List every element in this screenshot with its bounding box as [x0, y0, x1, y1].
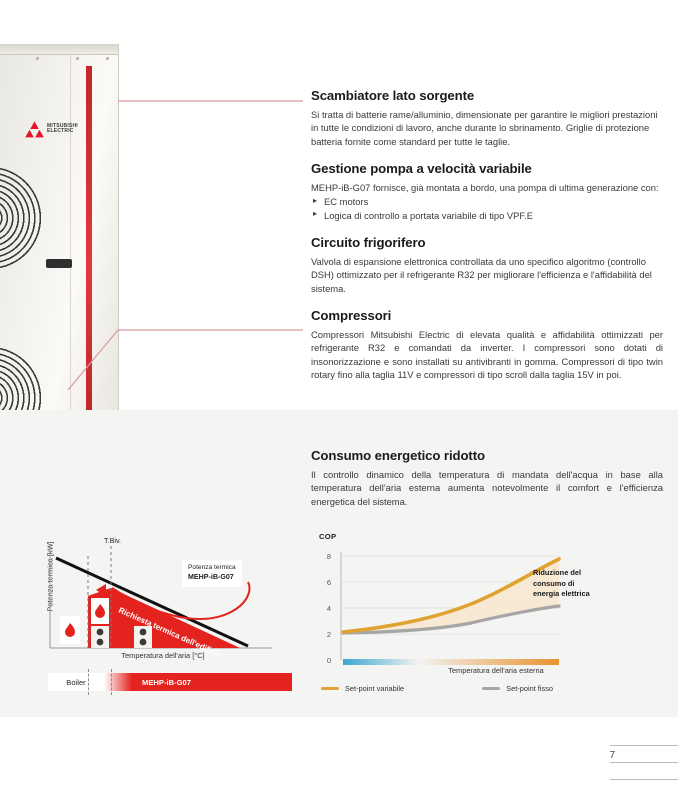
temperature-gradient-bar [343, 659, 559, 665]
boiler-flame-icon [60, 616, 80, 644]
feature-block: Compressori Compressori Mitsubishi Elect… [311, 308, 663, 381]
energy-saving-section: Consumo energetico ridotto Il controllo … [0, 410, 678, 719]
annotation-line-2: consumo di [533, 579, 590, 590]
energy-saving-text: Consumo energetico ridotto Il controllo … [311, 448, 663, 508]
legend-label-variable: Set-point variabile [345, 684, 404, 693]
legend-item-fixed: Set-point fisso [482, 684, 553, 693]
bivalent-chart-plot: Richiesta termica dell'edificio [26, 538, 292, 668]
annotation-line-3: energia elettrica [533, 589, 590, 600]
boiler-flame-icon [91, 598, 109, 624]
legend-label-fixed: Set-point fisso [506, 684, 553, 693]
savings-annotation: Riduzione del consumo di energia elettri… [533, 568, 590, 600]
y-tick-4: 4 [327, 604, 331, 613]
feature-heading: Compressori [311, 308, 663, 323]
annotation-line-1: Riduzione del [533, 568, 590, 579]
callout-line-1: Potenza termica [188, 564, 236, 573]
legend-item-variable: Set-point variabile [321, 684, 404, 693]
capacity-callout: Potenza termica MEHP-iB-G07 [182, 560, 242, 587]
footer-rule-bottom [610, 779, 678, 780]
feature-block: Gestione pompa a velocità variabile MEHP… [311, 161, 663, 222]
range-dashed-marker [88, 669, 89, 695]
bivalent-point-chart: Potenza termica [kW] Temperatura dell'ar… [26, 538, 292, 706]
feature-block: Scambiatore lato sorgente Si tratta di b… [311, 88, 663, 148]
operating-range-boiler: Boiler [48, 673, 104, 691]
heat-pump-unit-icon [91, 626, 109, 648]
cop-chart: COP 8 6 4 2 0 [311, 532, 663, 712]
feature-body: MEHP-iB-G07 fornisce, già montata a bord… [311, 181, 663, 194]
heat-pump-unit-icon [134, 626, 152, 648]
operating-range-heatpump: MEHP-iB-G07 [132, 673, 292, 691]
y-tick-2: 2 [327, 630, 331, 639]
feature-text-column: Scambiatore lato sorgente Si tratta di b… [311, 88, 663, 381]
cop-chart-legend: Set-point variabile Set-point fisso [321, 684, 661, 693]
cop-axis-title: COP [319, 532, 336, 541]
cop-chart-plot: 8 6 4 2 0 [311, 542, 663, 670]
y-tick-0: 0 [327, 656, 331, 665]
legend-swatch-variable [321, 687, 339, 691]
footer-rule-group [610, 745, 678, 780]
product-feature-section: MITSUBISHI ELECTRIC Scambiatore lato sor… [0, 0, 678, 410]
feature-body: Si tratta di batterie rame/alluminio, di… [311, 108, 663, 148]
leader-line-2 [68, 330, 303, 390]
range-dashed-marker [111, 669, 112, 695]
legend-swatch-fixed [482, 687, 500, 691]
list-item: EC motors [311, 195, 663, 208]
section-body: Il controllo dinamico della temperatura … [311, 468, 663, 508]
callout-line-2: MEHP-iB-G07 [188, 573, 236, 583]
list-item: Logica di controllo a portata variabile … [311, 209, 663, 222]
y-tick-8: 8 [327, 552, 331, 561]
cop-x-axis-label: Temperatura dell'aria esterna [341, 666, 651, 675]
feature-body: Valvola di espansione elettronica contro… [311, 255, 663, 295]
operating-range-bar: Boiler MEHP-iB-G07 [48, 673, 292, 691]
operating-range-transition [104, 673, 132, 691]
savings-area [343, 559, 559, 633]
feature-heading: Gestione pompa a velocità variabile [311, 161, 663, 176]
section-heading: Consumo energetico ridotto [311, 448, 663, 463]
feature-heading: Circuito frigorifero [311, 235, 663, 250]
page-footer: 7 [0, 717, 678, 807]
feature-bullet-list: EC motors Logica di controllo a portata … [311, 195, 663, 222]
feature-block: Circuito frigorifero Valvola di espansio… [311, 235, 663, 295]
page-number: 7 [609, 750, 615, 761]
feature-heading: Scambiatore lato sorgente [311, 88, 663, 103]
y-tick-6: 6 [327, 578, 331, 587]
feature-body: Compressori Mitsubishi Electric di eleva… [311, 328, 663, 381]
